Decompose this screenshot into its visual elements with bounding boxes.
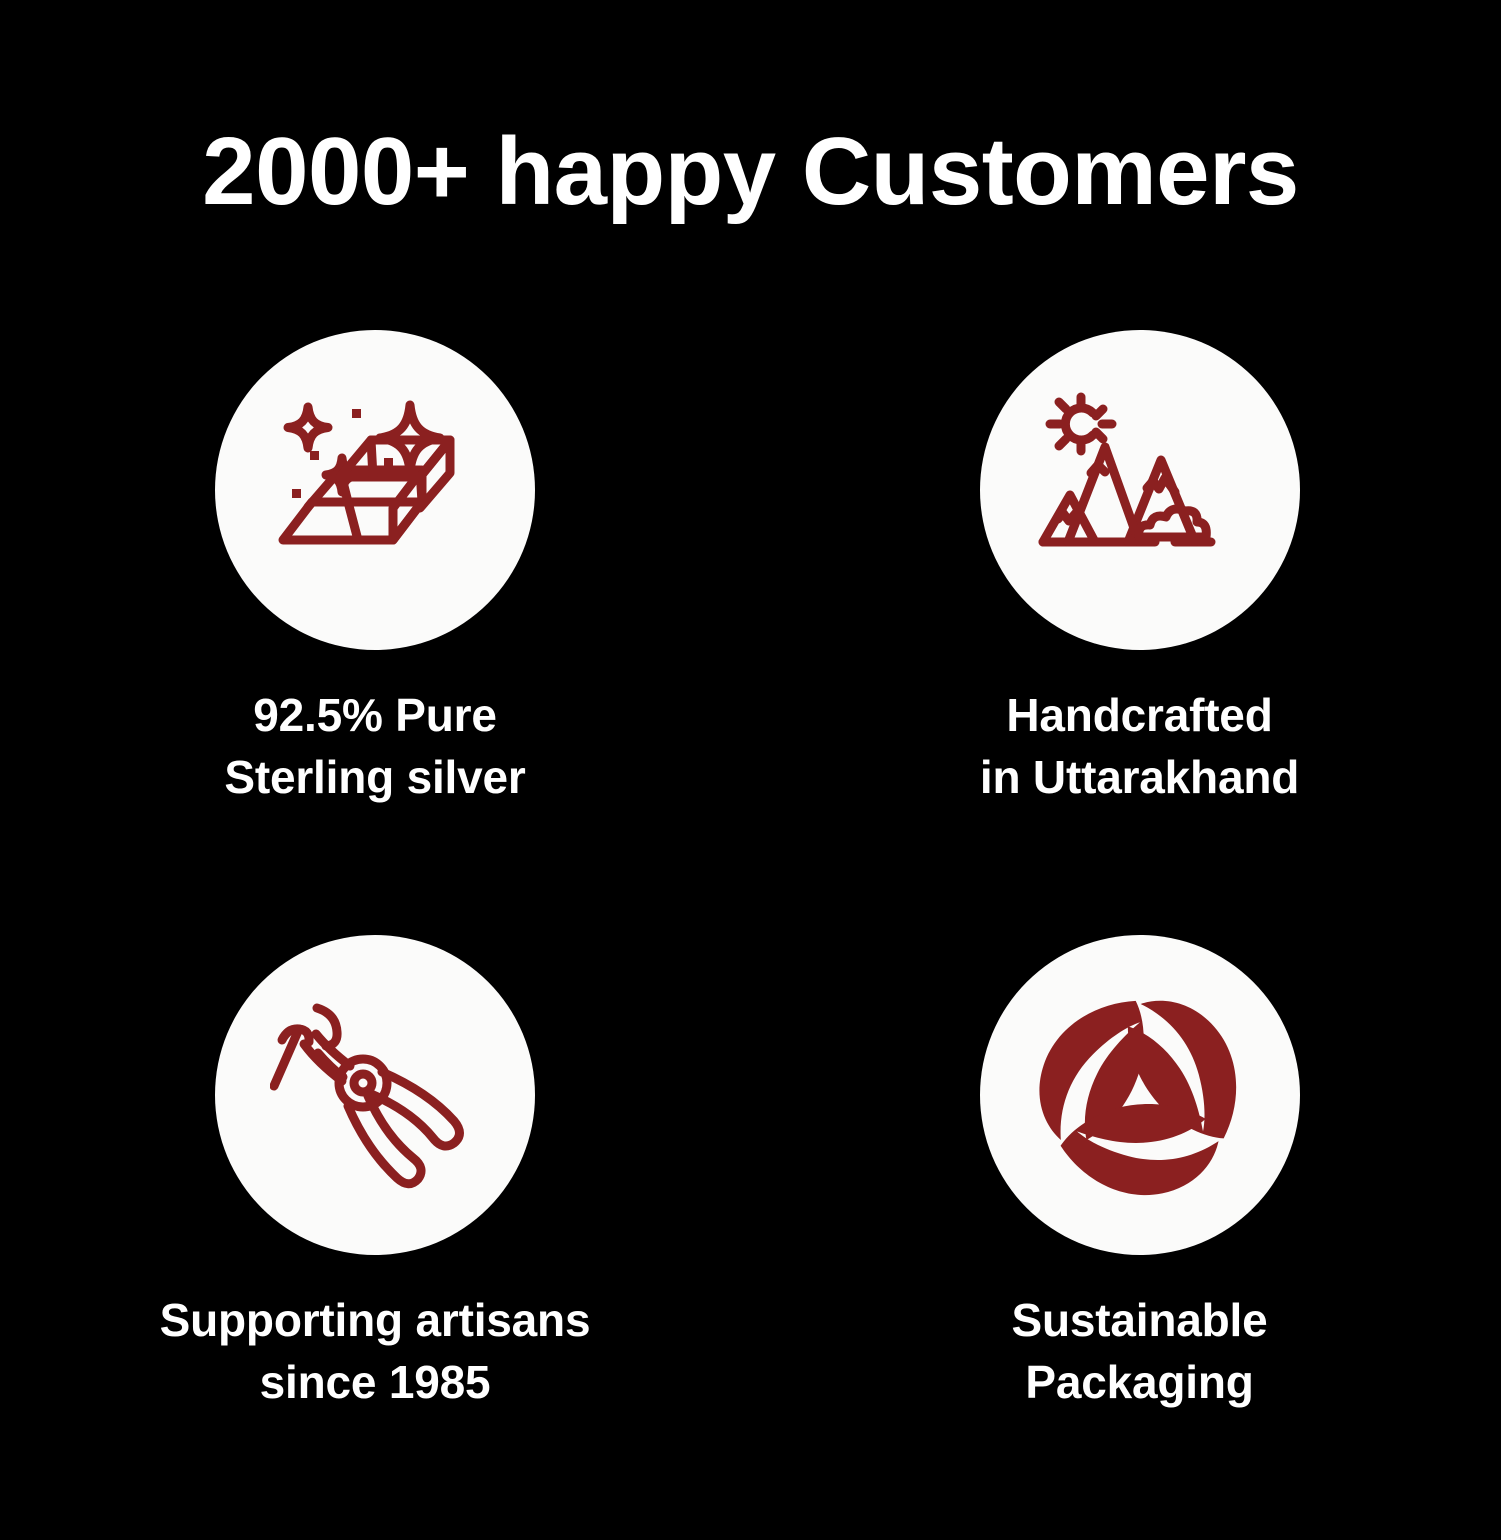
feature-caption: 92.5% Pure Sterling silver — [224, 684, 525, 808]
feature-item-supporting-artisans: Supporting artisans since 1985 — [0, 935, 750, 1540]
silver-bars-sparkle-icon — [270, 385, 480, 595]
feature-caption: Sustainable Packaging — [1012, 1289, 1268, 1413]
page-title: 2000+ happy Customers — [0, 116, 1501, 228]
feature-item-handcrafted: Handcrafted in Uttarakhand — [750, 330, 1501, 935]
mountains-sun-icon — [1035, 385, 1245, 595]
promo-banner: 2000+ happy Customers — [0, 0, 1501, 1501]
badge-circle — [215, 330, 535, 650]
badge-circle — [980, 935, 1300, 1255]
badge-circle — [215, 935, 535, 1255]
feature-item-sustainable-packaging: Sustainable Packaging — [750, 935, 1501, 1540]
feature-item-sterling-silver: 92.5% Pure Sterling silver — [0, 330, 750, 935]
feature-caption: Handcrafted in Uttarakhand — [980, 684, 1299, 808]
three-leaves-recycle-icon — [1033, 988, 1247, 1202]
feature-grid: 92.5% Pure Sterling silver — [0, 330, 1501, 1540]
feature-caption: Supporting artisans since 1985 — [160, 1289, 591, 1413]
badge-circle — [980, 330, 1300, 650]
jewelry-pliers-icon — [270, 990, 480, 1200]
